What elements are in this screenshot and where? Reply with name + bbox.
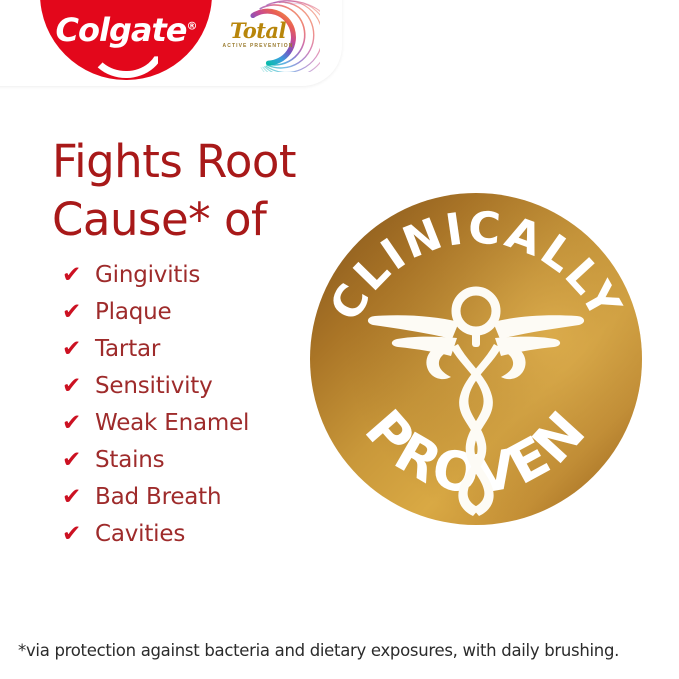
list-item-label: Stains bbox=[95, 449, 164, 472]
total-wordmark: Total bbox=[216, 20, 300, 41]
brand-header-bar: Colgate® bbox=[0, 0, 342, 86]
list-item: ✔ Sensitivity bbox=[62, 375, 342, 412]
list-item-label: Cavities bbox=[95, 523, 185, 546]
colgate-total-product-infographic: { "brand": { "logo_text": "Colgate", "re… bbox=[0, 0, 679, 679]
list-item-label: Gingivitis bbox=[95, 264, 200, 287]
list-item-label: Plaque bbox=[95, 301, 171, 324]
check-icon: ✔ bbox=[62, 449, 95, 472]
colgate-wordmark: Colgate® bbox=[40, 14, 212, 46]
list-item: ✔ Weak Enamel bbox=[62, 412, 342, 449]
colgate-smile-icon bbox=[87, 44, 165, 78]
list-item: ✔ Tartar bbox=[62, 338, 342, 375]
badge-graphic: CLINICALLY PROVEN bbox=[309, 192, 643, 526]
list-item-label: Tartar bbox=[95, 338, 160, 361]
headline-line-1: Fights Root bbox=[52, 133, 352, 191]
headline-line-2: Cause* of bbox=[52, 191, 352, 249]
list-item: ✔ Plaque bbox=[62, 301, 342, 338]
registered-trademark-icon: ® bbox=[186, 19, 196, 32]
list-item: ✔ Bad Breath bbox=[62, 486, 342, 523]
total-text-block: Total ACTIVE PREVENTION bbox=[216, 20, 300, 49]
list-item-label: Weak Enamel bbox=[95, 412, 249, 435]
total-tagline: ACTIVE PREVENTION bbox=[216, 43, 300, 49]
footnote-disclaimer: *via protection against bacteria and die… bbox=[18, 641, 668, 661]
list-item: ✔ Gingivitis bbox=[62, 264, 342, 301]
page-title: Fights Root Cause* of bbox=[52, 133, 352, 248]
check-icon: ✔ bbox=[62, 301, 95, 324]
list-item-label: Sensitivity bbox=[95, 375, 213, 398]
check-icon: ✔ bbox=[62, 412, 95, 435]
benefits-list: ✔ Gingivitis ✔ Plaque ✔ Tartar ✔ Sensiti… bbox=[62, 264, 342, 560]
colgate-logo: Colgate® bbox=[40, 0, 212, 80]
check-icon: ✔ bbox=[62, 264, 95, 287]
check-icon: ✔ bbox=[62, 486, 95, 509]
list-item: ✔ Stains bbox=[62, 449, 342, 486]
check-icon: ✔ bbox=[62, 375, 95, 398]
total-sub-brand-logo: Total ACTIVE PREVENTION bbox=[212, 0, 320, 72]
check-icon: ✔ bbox=[62, 338, 95, 361]
clinically-proven-badge: CLINICALLY PROVEN bbox=[309, 192, 643, 526]
list-item: ✔ Cavities bbox=[62, 523, 342, 560]
check-icon: ✔ bbox=[62, 523, 95, 546]
list-item-label: Bad Breath bbox=[95, 486, 221, 509]
